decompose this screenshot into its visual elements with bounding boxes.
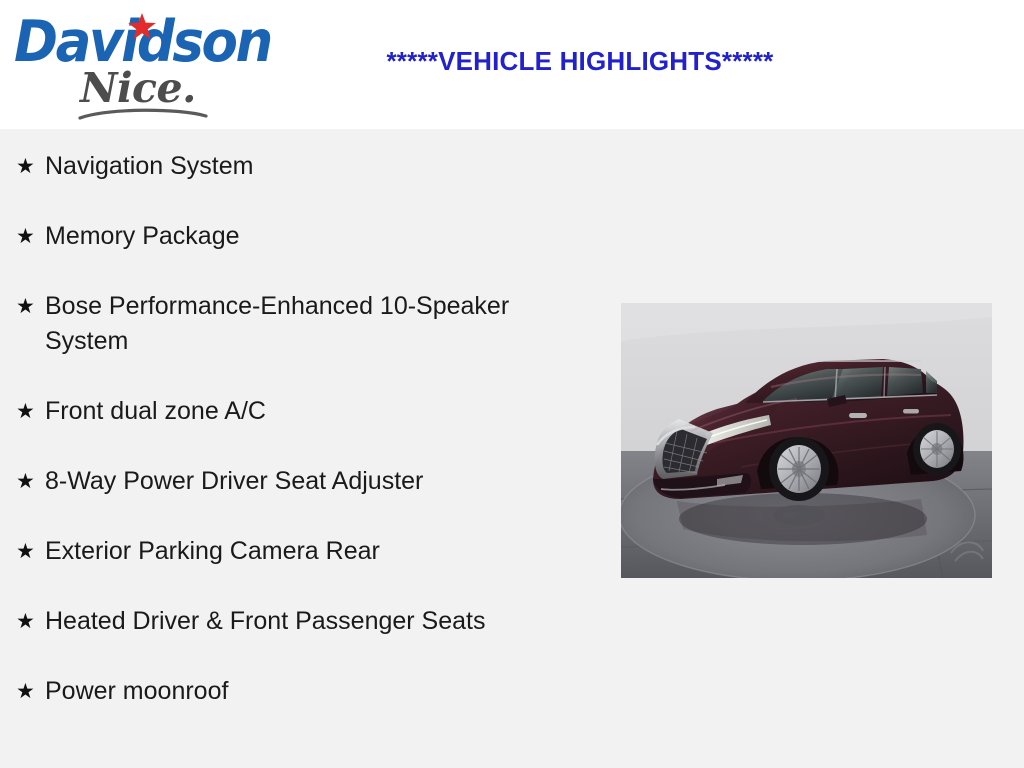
list-item: ★ Exterior Parking Camera Rear <box>0 534 560 569</box>
list-item: ★ Bose Performance-Enhanced 10-Speaker S… <box>0 289 560 359</box>
list-item: ★ Heated Driver & Front Passenger Seats <box>0 604 560 639</box>
list-item-label: Power moonroof <box>45 674 511 709</box>
list-item-label: Bose Performance-Enhanced 10-Speaker Sys… <box>45 289 511 359</box>
star-bullet-icon: ★ <box>16 289 45 324</box>
list-item-label: Navigation System <box>45 149 511 184</box>
list-item-label: 8-Way Power Driver Seat Adjuster <box>45 464 511 499</box>
list-item: ★ Memory Package <box>0 219 560 254</box>
star-bullet-icon: ★ <box>16 149 45 184</box>
list-item-label: Memory Package <box>45 219 511 254</box>
star-bullet-icon: ★ <box>16 604 45 639</box>
vehicle-photo[interactable] <box>621 303 992 578</box>
dealer-logo[interactable]: Davidson Nice. <box>14 6 272 124</box>
list-item-label: Front dual zone A/C <box>45 394 511 429</box>
list-item: ★ Front dual zone A/C <box>0 394 560 429</box>
vehicle-highlights-page: Davidson Nice. *****VEHICLE HIGHLIGHTS**… <box>0 0 1024 768</box>
list-item: ★ 8-Way Power Driver Seat Adjuster <box>0 464 560 499</box>
star-icon <box>127 12 157 42</box>
star-bullet-icon: ★ <box>16 219 45 254</box>
star-bullet-icon: ★ <box>16 394 45 429</box>
vehicle-highlights-list: ★ Navigation System ★ Memory Package ★ B… <box>0 129 560 744</box>
list-item: ★ Power moonroof <box>0 674 560 709</box>
logo-swoosh-icon <box>78 107 208 121</box>
list-item-label: Heated Driver & Front Passenger Seats <box>45 604 511 639</box>
star-bullet-icon: ★ <box>16 464 45 499</box>
page-title: *****VEHICLE HIGHLIGHTS***** <box>300 46 860 76</box>
list-item-label: Exterior Parking Camera Rear <box>45 534 511 569</box>
list-item: ★ Navigation System <box>0 149 560 184</box>
dealer-logo-sub-name: Nice. <box>80 68 196 109</box>
star-bullet-icon: ★ <box>16 674 45 709</box>
star-bullet-icon: ★ <box>16 534 45 569</box>
page-header: Davidson Nice. *****VEHICLE HIGHLIGHTS**… <box>0 0 1024 129</box>
